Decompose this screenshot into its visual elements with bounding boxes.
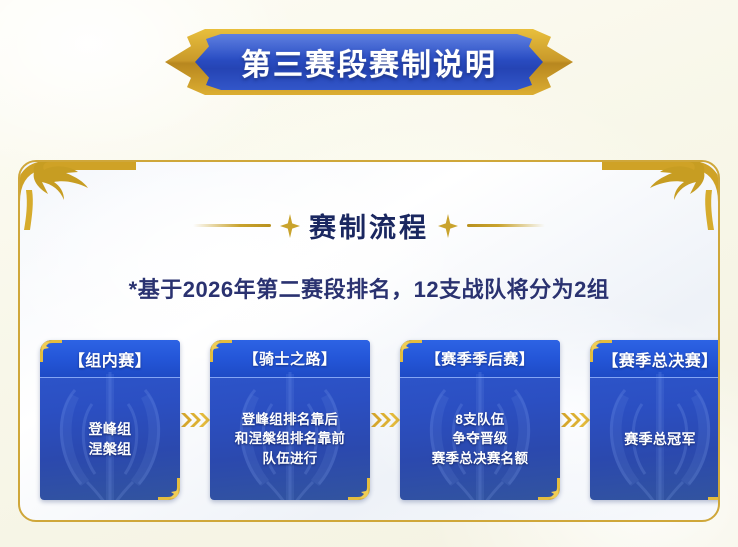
triple-chevron-right-icon [560, 410, 590, 430]
stage-card-title: 【赛季季后赛】 [400, 340, 560, 378]
stage-card-knights-path[interactable]: 【骑士之路】 登峰组排名靠后和涅槃组排名靠前队伍进行 [210, 340, 370, 500]
banner-shape: 第三赛段赛制说明 [165, 29, 573, 95]
four-point-star-icon [280, 214, 300, 238]
heading-rule-left [193, 224, 271, 227]
stage-card-body: 赛季总冠军 [590, 378, 720, 500]
stage-card-body: 8支队伍争夺晋级赛季总决赛名额 [400, 378, 560, 500]
stage-card-title: 【组内赛】 [40, 340, 180, 378]
stage-body-line: 涅槃组 [89, 439, 132, 459]
stage-body-line: 争夺晋级 [432, 429, 529, 449]
page-title: 第三赛段赛制说明 [165, 29, 573, 95]
stage-body-line: 队伍进行 [235, 449, 345, 469]
rules-panel: 赛制流程 *基于2026年第二赛段排名，12支战队将分为2组 【组内赛】 [18, 160, 720, 522]
triple-chevron-right-icon [180, 410, 210, 430]
stage-arrow [560, 340, 590, 500]
stage-body-line: 8支队伍 [432, 410, 529, 430]
flow-heading: 赛制流程 [20, 206, 718, 245]
stage-arrow [180, 340, 210, 500]
stage-body-line: 赛季总冠军 [624, 429, 696, 449]
stage-body-line: 登峰组排名靠后 [235, 410, 345, 430]
subtitle-text: *基于2026年第二赛段排名，12支战队将分为2组 [20, 272, 718, 304]
stage-arrow [370, 340, 400, 500]
title-banner: 第三赛段赛制说明 [0, 22, 738, 102]
stage-card-title: 【赛季总决赛】 [590, 340, 720, 378]
flow-heading-text: 赛制流程 [309, 206, 429, 245]
stage-card-season-finals[interactable]: 【赛季总决赛】 赛季总冠军 [590, 340, 720, 500]
four-point-star-icon [438, 214, 458, 238]
stage-card-group-stage[interactable]: 【组内赛】 登峰组涅槃组 [40, 340, 180, 500]
stage-card-season-playoffs[interactable]: 【赛季季后赛】 8支队伍争夺晋级赛季总决赛名额 [400, 340, 560, 500]
heading-rule-right [467, 224, 545, 227]
flow-stages-row: 【组内赛】 登峰组涅槃组 [40, 340, 698, 508]
stage-body-line: 和涅槃组排名靠前 [235, 429, 345, 449]
triple-chevron-right-icon [370, 410, 400, 430]
stage-card-body: 登峰组涅槃组 [40, 378, 180, 500]
stage-body-line: 登峰组 [89, 419, 132, 439]
stage-body-line: 赛季总决赛名额 [432, 449, 529, 469]
stage-card-title: 【骑士之路】 [210, 340, 370, 378]
stage-card-body: 登峰组排名靠后和涅槃组排名靠前队伍进行 [210, 378, 370, 500]
